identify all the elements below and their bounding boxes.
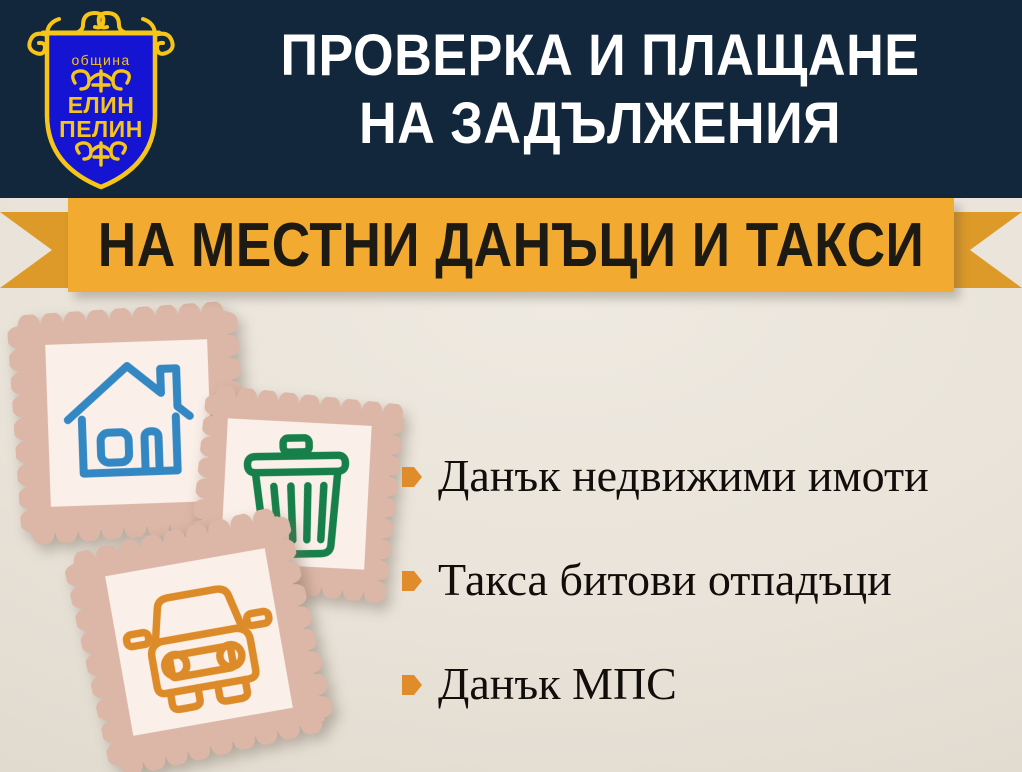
list-item-label: Данък недвижими имоти: [438, 450, 929, 502]
subtitle-ribbon: НА МЕСТНИ ДАНЪЦИ И ТАКСИ: [0, 198, 1022, 302]
municipality-crest-logo: община ЕЛИН ПЕЛИН: [17, 5, 185, 193]
page-title-line-2: НА ЗАДЪЛЖЕНИЯ: [231, 90, 969, 158]
ribbon-label: НА МЕСТНИ ДАНЪЦИ И ТАКСИ: [130, 198, 892, 292]
arrow-bullet-icon: [402, 673, 422, 697]
poster-canvas: община ЕЛИН ПЕЛИН ПРОВЕРКА: [0, 0, 1022, 772]
ribbon-banner: НА МЕСТНИ ДАНЪЦИ И ТАКСИ: [68, 198, 954, 292]
tax-type-list: Данък недвижими имоти Такса битови отпад…: [402, 424, 1014, 736]
crest-name-line-1: ЕЛИН: [68, 92, 135, 118]
list-item-label: Такса битови отпадъци: [438, 554, 892, 606]
crest-municipality-word: община: [71, 52, 130, 68]
crest-name-line-2: ПЕЛИН: [59, 116, 143, 142]
list-item-label: Данък МПС: [438, 658, 677, 710]
arrow-bullet-icon: [402, 465, 422, 489]
page-title-line-1: ПРОВЕРКА И ПЛАЩАНЕ: [231, 22, 969, 90]
page-title: ПРОВЕРКА И ПЛАЩАНЕ НА ЗАДЪЛЖЕНИЯ: [190, 22, 1010, 158]
list-item[interactable]: Данък МПС: [402, 632, 1014, 736]
arrow-bullet-icon: [402, 569, 422, 593]
list-item[interactable]: Такса битови отпадъци: [402, 528, 1014, 632]
list-item[interactable]: Данък недвижими имоти: [402, 424, 1014, 528]
